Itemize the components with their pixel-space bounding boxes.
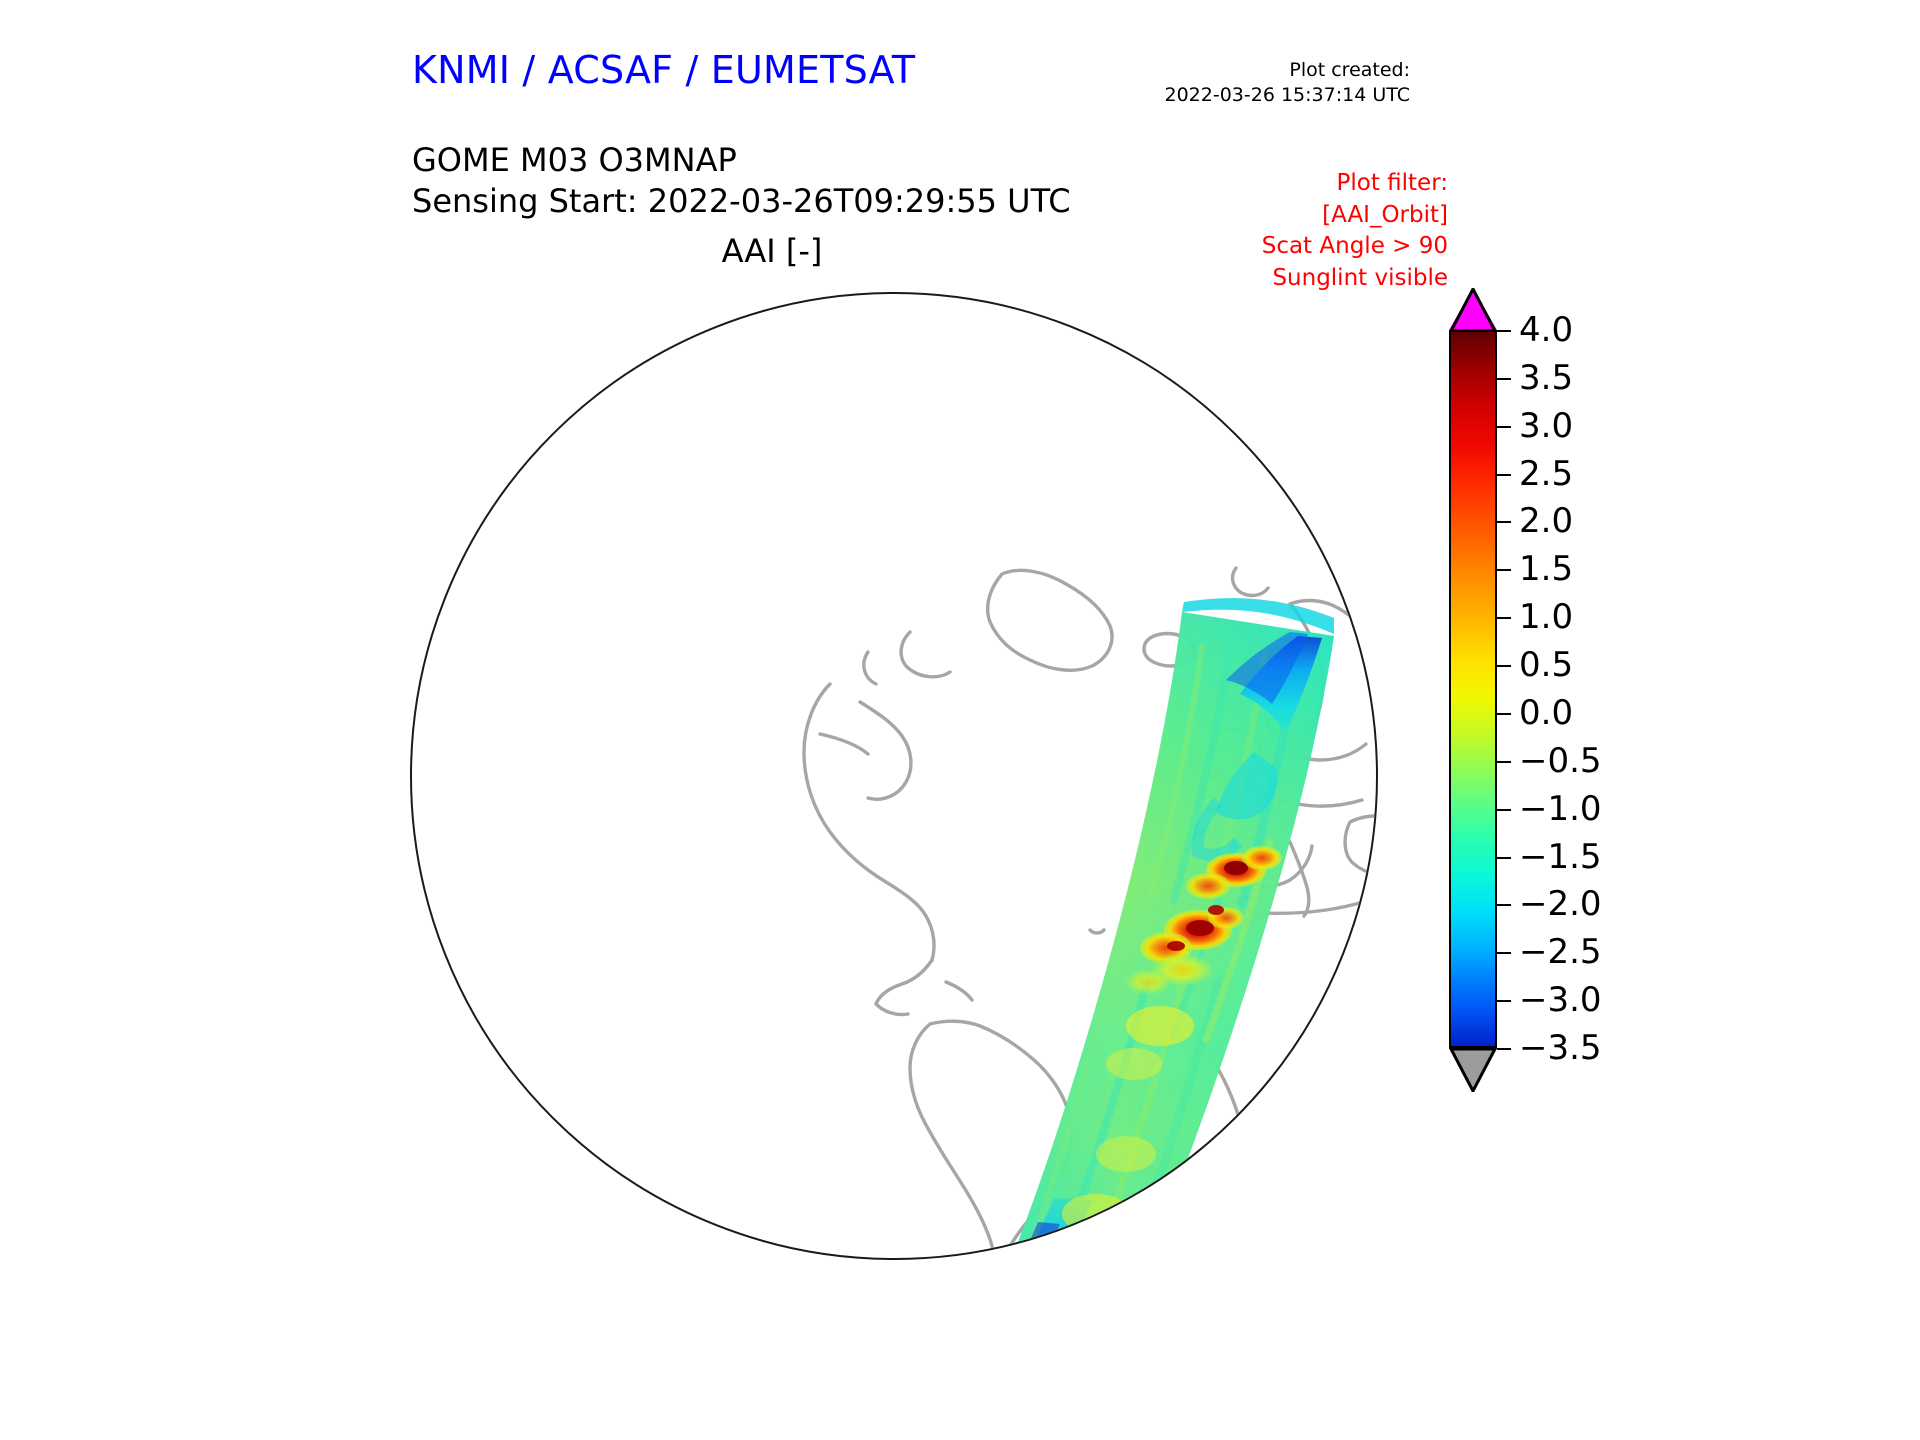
colorbar-tick-label: 2.5 (1519, 454, 1573, 494)
colorbar-over-arrow-outline (1449, 288, 1497, 332)
plot-filter-scat-angle: Scat Angle > 90 (1262, 231, 1448, 263)
colorbar-tick-label: 1.0 (1519, 597, 1573, 637)
colorbar-tick-label: −2.5 (1519, 932, 1602, 972)
colorbar-under-arrow-outline (1449, 1046, 1497, 1092)
plot-created-label: Plot created: (1165, 58, 1411, 83)
colorbar-tick (1497, 904, 1511, 906)
colorbar-gradient (1449, 330, 1497, 1048)
plot-filter-label: Plot filter: (1262, 168, 1448, 200)
colorbar-tick (1497, 857, 1511, 859)
colorbar-tick (1497, 809, 1511, 811)
colorbar-tick-label: −1.5 (1519, 837, 1602, 877)
plot-created-block: Plot created: 2022-03-26 15:37:14 UTC (1165, 58, 1411, 108)
colorbar-tick-label: 0.5 (1519, 645, 1573, 685)
organisation-title: KNMI / ACSAF / EUMETSAT (412, 48, 915, 92)
colorbar-tick (1497, 521, 1511, 523)
colorbar-tick-label: 0.0 (1519, 693, 1573, 733)
colorbar-tick-label: −0.5 (1519, 741, 1602, 781)
colorbar-tick (1497, 952, 1511, 954)
colorbar-tick-label: −3.0 (1519, 980, 1602, 1020)
colorbar-tick-label: −3.5 (1519, 1028, 1602, 1068)
colorbar-tick-label: 3.0 (1519, 406, 1573, 446)
colorbar-tick-label: 1.5 (1519, 549, 1573, 589)
plot-created-timestamp: 2022-03-26 15:37:14 UTC (1165, 83, 1411, 108)
colorbar-tick (1497, 665, 1511, 667)
colorbar-tick (1497, 1000, 1511, 1002)
colorbar-tick (1497, 617, 1511, 619)
colorbar-tick-label: 3.5 (1519, 358, 1573, 398)
colorbar-tick-label: −1.0 (1519, 789, 1602, 829)
plot-filter-block: Plot filter: [AAI_Orbit] Scat Angle > 90… (1262, 168, 1448, 295)
colorbar-tick (1497, 378, 1511, 380)
colorbar-tick-label: −2.0 (1519, 884, 1602, 924)
colorbar-tick (1497, 330, 1511, 332)
product-name: GOME M03 O3MNAP (412, 140, 1071, 181)
product-title-block: GOME M03 O3MNAP Sensing Start: 2022-03-2… (412, 140, 1071, 222)
variable-title: AAI [-] (412, 232, 1132, 270)
aai-swath (998, 598, 1334, 1292)
sensing-start: Sensing Start: 2022-03-26T09:29:55 UTC (412, 181, 1071, 222)
colorbar-tick-label: 4.0 (1519, 310, 1573, 350)
colorbar-tick (1497, 1048, 1511, 1050)
colorbar-tick (1497, 713, 1511, 715)
colorbar-tick (1497, 474, 1511, 476)
colorbar: 4.03.53.02.52.01.51.00.50.0−0.5−1.0−1.5−… (1449, 288, 1779, 1298)
coastline-overlay (390, 282, 1400, 1292)
colorbar-tick (1497, 569, 1511, 571)
colorbar-tick-label: 2.0 (1519, 501, 1573, 541)
colorbar-tick (1497, 761, 1511, 763)
plot-filter-name: [AAI_Orbit] (1262, 200, 1448, 232)
colorbar-tick (1497, 426, 1511, 428)
map-plot-area (390, 282, 1400, 1292)
